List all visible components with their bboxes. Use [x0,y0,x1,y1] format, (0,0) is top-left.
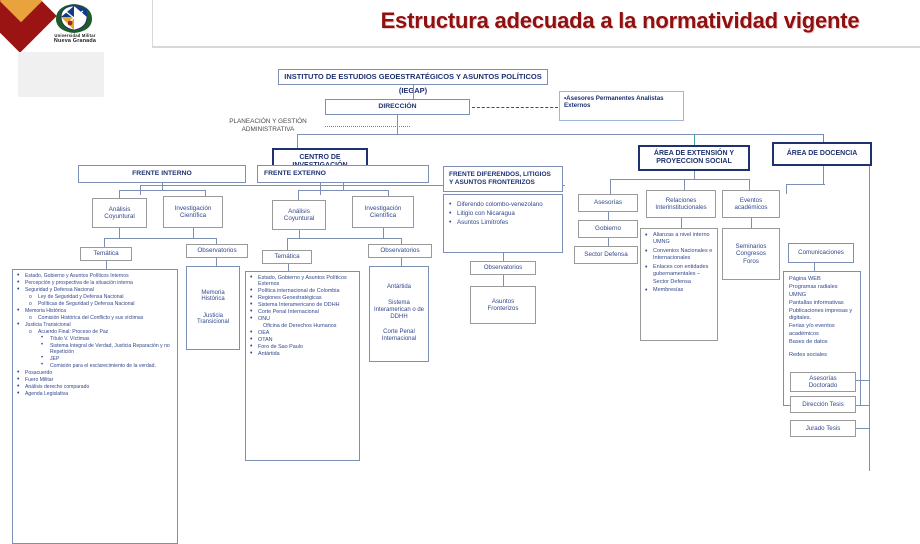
fe-tematica-item-5: ONU [249,316,356,322]
fi-node-observatorios: Observatorios [186,244,248,258]
ext-relaciones-item-2: Enlaces con entidades gubernamentales – … [644,264,714,286]
fe-connector-analisis [298,190,299,200]
fi-connector-obs-down [216,258,217,266]
fd-item-0: Diferendo colombo-venezolano [448,201,557,209]
doc-node-direccion-tesis: Dirección Tesis [790,396,856,413]
fi-tematica-item-14: Fuero Militar [16,377,174,383]
fi-connector-down [162,183,163,190]
ext-eventos-box: Seminarios Congresos Foros [722,228,780,280]
fe-connector-bus [298,190,388,191]
fe-observatorios-box: Antártida Sistema Interamerican o de DDH… [369,266,429,362]
fi-observatorios-box: Memoria Histórica Justicia Transicional [186,266,240,350]
fe-obs-item-1: Sistema Interamerican o de DDHH [370,300,428,322]
fe-investigacion-line2: Científica [370,212,396,219]
node-frente-diferendos: FRENTE DIFERENDOS, LITIGIOS Y ASUNTOS FR… [443,166,563,192]
fe-connector-tematica-down [288,264,289,271]
ext-relaciones-list: Alianzas a nivel interno UMNGConvenios N… [640,228,718,341]
fd-connector-down [503,253,504,261]
fi-tematica-item-12: Comisión para el esclarecimiento de la v… [16,363,174,369]
fe-tematica-item-1: Política internacional de Colombia [249,288,356,294]
extension-line2: PROYECCION SOCIAL [656,158,731,166]
doc-com-item-0: Página WEB [789,276,855,284]
fi-analisis-line2: Coyuntural [104,213,134,220]
doc-connector-rail-1 [855,380,869,381]
doc-node-jurado-tesis: Jurado Tesis [790,420,856,437]
fd-title-line2: Y ASUNTOS FRONTERIZOS [449,179,535,187]
connector-to-centro [297,134,298,148]
doc-connector-rail-3 [855,428,869,429]
fe-tematica-item-3: Sistema Interamericano de DDHH [249,302,356,308]
fd-asuntos-line2: Fronterizos [488,305,519,312]
page-title: Estructura adecuada a la normatividad vi… [330,4,910,40]
ext-node-relaciones: Relaciones Interinstitucionales [646,190,716,218]
ext-connector-relaciones [684,179,685,190]
fe-tematica-item-6: Oficina de Derechos Humanos [249,323,356,329]
fi-tematica-item-10: Sistema Integral de Verdad, Justicia Rep… [16,343,174,355]
label-planeacion: PLANEACIÓN Y GESTIÓN ADMINISTRATIVA [208,118,328,134]
fd-connector-obs-down [503,275,504,286]
fi-tematica-item-11: JEP [16,356,174,362]
logo-line-1: Universidad Militar [54,33,95,38]
fe-connector-obs-down [401,258,402,266]
fi-tematica-item-5: Memoria Histórica [16,308,174,314]
doc-com-item-1: Programas radiales UMNG [789,284,855,299]
fi-node-analisis-coyuntural: Análisis Coyuntural [92,198,147,228]
fi-connector-analisis-down [119,228,120,238]
ext-connector-down [694,171,695,179]
node-area-extension: ÁREA DE EXTENSIÓN Y PROYECCION SOCIAL [638,145,750,171]
university-logo: Universidad Militar Nueva Granada [0,0,150,48]
ext-relaciones-item-3: Membresías [644,287,714,294]
ext-evento-0: Seminarios [736,243,767,250]
fd-asuntos-line1: Asuntos [492,298,514,305]
fi-tematica-list: Estado, Gobierno y Asuntos Políticos Int… [12,269,178,544]
fe-tematica-item-7: OEA [249,330,356,336]
doc-connector-comunicaciones [786,184,787,194]
fi-analisis-line1: Análisis [109,206,131,213]
fd-title-line1: FRENTE DIFERENDOS, LITIGIOS [449,171,551,179]
ext-eventos-line2: académicos [734,204,767,211]
connector-root-direccion [413,85,414,99]
connector-area-bus [297,134,823,135]
fe-tematica-list: Estado, Gobierno y Asuntos Políticos Ext… [245,271,360,461]
fe-obs-item-0: Antártida [387,284,411,291]
fe-node-tematica: Temática [262,250,312,264]
node-frente-externo: FRENTE EXTERNO [257,165,429,183]
doc-node-comunicaciones: Comunicaciones [788,243,854,263]
fi-tematica-item-16: Agenda Legislativa [16,391,174,397]
connector-direccion-down [397,115,398,134]
fe-connector-bus2 [287,238,401,239]
ext-relaciones-line1: Relaciones [666,197,697,204]
fd-items-list: Diferendo colombo-venezolanoLitigio con … [443,194,563,253]
ext-connector-sector [608,238,609,246]
fi-tematica-item-1: Percepción y prospectiva de la situación… [16,280,174,286]
fi-connector-inv-down [193,228,194,238]
ext-connector-eventos-down [751,218,752,228]
node-direccion: DIRECCIÓN [325,99,470,115]
fe-tematica-item-9: Foro de Sao Paulo [249,344,356,350]
fi-obs-item-1: Histórica [201,296,224,303]
fi-tematica-item-9: Título V. Víctimas [16,336,174,342]
fi-tematica-item-2: Seguridad y Defensa Nacional [16,287,174,293]
fe-obs-item-2: Corte Penal Internacional [370,329,428,343]
fi-tematica-item-8: Acuerdo Final: Proceso de Paz [16,329,174,335]
header-divider-horizontal [152,46,920,48]
fe-connector-analisis-down [299,230,300,238]
fi-connector-bus [119,190,205,191]
fe-connector-inv-down [383,228,384,238]
ext-node-gobierno: Gobierno [578,220,638,238]
fe-node-analisis-coyuntural: Análisis Coyuntural [272,200,326,230]
node-instituto: INSTITUTO DE ESTUDIOS GEOESTRATÉGICOS Y … [278,69,548,85]
doc-connector-bus [786,184,825,185]
fe-analisis-line1: Análisis [288,208,310,215]
fe-connector-tematica [287,238,288,250]
org-chart: INSTITUTO DE ESTUDIOS GEOESTRATÉGICOS Y … [0,50,920,497]
fd-node-observatorios: Observatorios [470,261,536,275]
fi-tematica-item-0: Estado, Gobierno y Asuntos Políticos Int… [16,273,174,279]
label-planeacion-line1: PLANEACIÓN Y GESTIÓN [229,118,307,125]
fe-tematica-item-0: Estado, Gobierno y Asuntos Políticos Ext… [249,275,356,287]
fe-tematica-item-8: OTAN [249,337,356,343]
node-frente-interno: FRENTE INTERNO [78,165,246,183]
fi-node-investigacion-cientifica: Investigación Científica [163,196,223,228]
fi-tematica-item-6: Comisión Histórica del Conflicto y sus v… [16,315,174,321]
ext-node-sector-defensa: Sector Defensa [574,246,638,264]
doc-com-item-4: Ferias y/o eventos académicos [789,323,855,338]
fd-item-2: Asuntos Limítrofes [448,219,557,227]
connector-direccion-asesores [472,107,558,108]
ext-connector-relaciones-down [681,218,682,228]
node-area-docencia: ÁREA DE DOCENCIA [772,142,872,166]
fi-investigacion-line1: Investigación [175,205,212,212]
doc-node-asesorias-doctorado: Asesorías Doctorado [790,372,856,392]
fi-connector-tematica-down [106,261,107,269]
centro-line1: CENTRO DE [299,154,340,162]
fi-tematica-item-4: Políticas de Seguridad y Defensa Naciona… [16,301,174,307]
ext-evento-1: Congresos [736,250,766,257]
doc-com-item-7: Redes sociales [789,352,855,360]
node-asesores-externos: •Asesores Permanentes Analistas Externos [559,91,684,121]
doc-connector-down [823,166,824,184]
ext-relaciones-line2: Interinstitucionales [655,204,706,211]
connector-to-docencia [823,134,824,142]
fe-tematica-item-4: Corte Penal Internacional [249,309,356,315]
fi-tematica-item-7: Justicia Transicional [16,322,174,328]
ext-evento-2: Foros [743,258,759,265]
fi-tematica-item-3: Ley de Seguridad y Defensa Nacional [16,294,174,300]
fe-node-observatorios: Observatorios [368,244,432,258]
label-planeacion-line2: ADMINISTRATIVA [242,126,295,133]
fi-investigacion-line2: Científica [180,212,206,219]
fi-connector-analisis [119,190,120,198]
logo-line-2: Nueva Granada [54,38,96,44]
fe-analisis-line2: Coyuntural [284,215,314,222]
doc-connector-com-down [814,263,815,271]
fd-node-asuntos-fronterizos: Asuntos Fronterizos [470,286,536,324]
ext-connector-eventos [749,179,750,190]
doc-connector-rail-2 [855,405,869,406]
fe-investigacion-line1: Investigación [365,205,402,212]
fe-tematica-item-10: Antártida [249,351,356,357]
doc-com-item-6 [789,347,855,352]
shield-icon [52,1,96,35]
ext-connector-bus [610,179,749,180]
logo-caption: Universidad Militar Nueva Granada [40,33,110,45]
extension-line1: ÁREA DE EXTENSIÓN Y [654,150,734,158]
header-bar: Universidad Militar Nueva Granada Estruc… [0,0,920,50]
connector-to-extension [694,134,695,145]
fi-tematica-item-13: Posacuerdo [16,370,174,376]
doc-com-item-3: Publicaciones impresas y digitales. [789,308,855,323]
ext-eventos-line1: Eventos [740,197,762,204]
ext-relaciones-item-0: Alianzas a nivel interno UMNG [644,232,714,247]
fe-node-investigacion-cientifica: Investigación Científica [352,196,414,228]
doc-connector-right-rail [869,166,870,471]
fi-connector-tematica [104,238,105,247]
fi-node-tematica: Temática [80,247,132,261]
ext-connector-asesorias [610,179,611,194]
fd-item-1: Litigio con Nicaragua [448,210,557,218]
doc-asesorias-line2: Doctorado [809,382,838,389]
ext-connector-gobierno [608,212,609,220]
fi-tematica-item-15: Análisis derecho comparado [16,384,174,390]
fi-obs-item-3: Transicional [197,319,229,326]
doc-com-item-2: Pantallas informativas [789,300,855,308]
doc-asesorias-line1: Asesorías [809,375,837,382]
doc-com-item-5: Bases de datos [789,339,855,347]
header-divider-vertical [152,0,153,48]
fi-connector-bus2 [104,238,216,239]
fe-connector-down [343,183,344,190]
fe-tematica-item-2: Regiones Geoestratégicas [249,295,356,301]
ext-node-eventos: Eventos académicos [722,190,780,218]
ext-node-asesorias: Asesorías [578,194,638,212]
ext-relaciones-item-1: Convenios Nacionales e Internacionales [644,248,714,263]
